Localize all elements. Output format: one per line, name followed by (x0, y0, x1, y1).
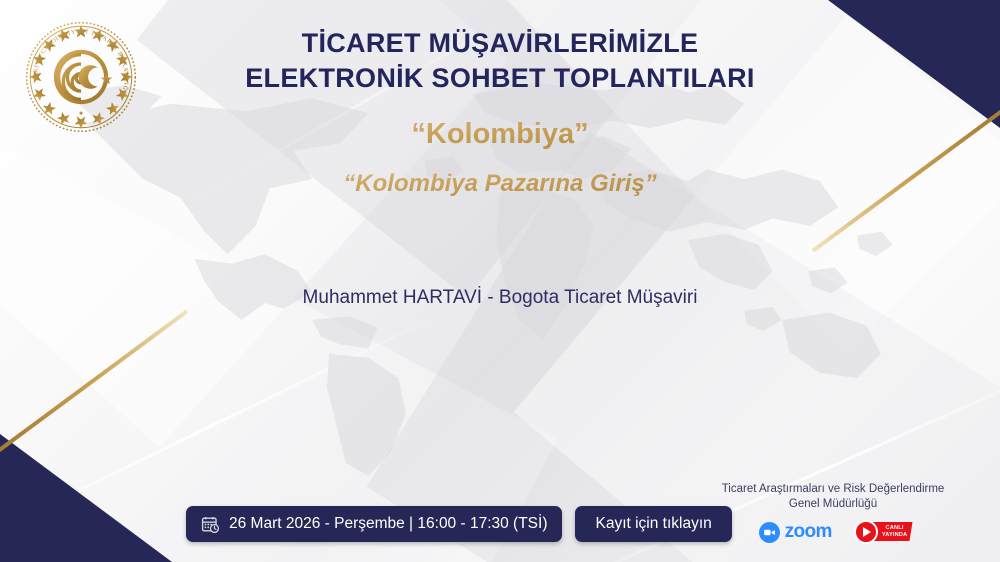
zoom-camera-icon (759, 522, 780, 543)
bottom-action-bar: 26 Mart 2026 - Perşembe | 16:00 - 17:30 … (186, 506, 732, 542)
play-icon (854, 520, 878, 544)
title-line-1: TİCARET MÜŞAVİRLERİMİZLE (0, 26, 1000, 61)
title-line-2: ELEKTRONİK SOHBET TOPLANTILARI (0, 61, 1000, 96)
webinar-poster: TÜRKİYE CUMHURİYETİ TİCARET BAKANLIĞI Tİ… (0, 0, 1000, 562)
live-badge-text: CANLI YAYINDA (882, 525, 908, 539)
topic-subtitle: “Kolombiya Pazarına Giriş” (0, 170, 1000, 198)
platform-logos: zoom CANLI YAYINDA (708, 520, 958, 544)
directorate-line-1: Ticaret Araştırmaları ve Risk Değerlendi… (708, 482, 958, 498)
zoom-logo[interactable]: zoom (759, 521, 832, 543)
live-text-line-1: CANLI (886, 525, 904, 531)
page-title: TİCARET MÜŞAVİRLERİMİZLE ELEKTRONİK SOHB… (0, 26, 1000, 95)
corner-wedge-bottom-left (0, 434, 172, 562)
speaker-name: Muhammet HARTAVİ - Bogota Ticaret Müşavi… (0, 287, 1000, 309)
calendar-clock-icon (201, 515, 220, 534)
country-heading: “Kolombiya” (0, 118, 1000, 151)
date-time-pill: 26 Mart 2026 - Perşembe | 16:00 - 17:30 … (186, 506, 562, 542)
live-stream-badge[interactable]: CANLI YAYINDA (854, 520, 908, 544)
zoom-wordmark: zoom (785, 521, 832, 543)
date-time-text: 26 Mart 2026 - Perşembe | 16:00 - 17:30 … (229, 515, 547, 533)
directorate-block: Ticaret Araştırmaları ve Risk Değerlendi… (708, 482, 958, 544)
live-text-line-2: YAYINDA (882, 532, 908, 538)
directorate-line-2: Genel Müdürlüğü (708, 497, 958, 513)
